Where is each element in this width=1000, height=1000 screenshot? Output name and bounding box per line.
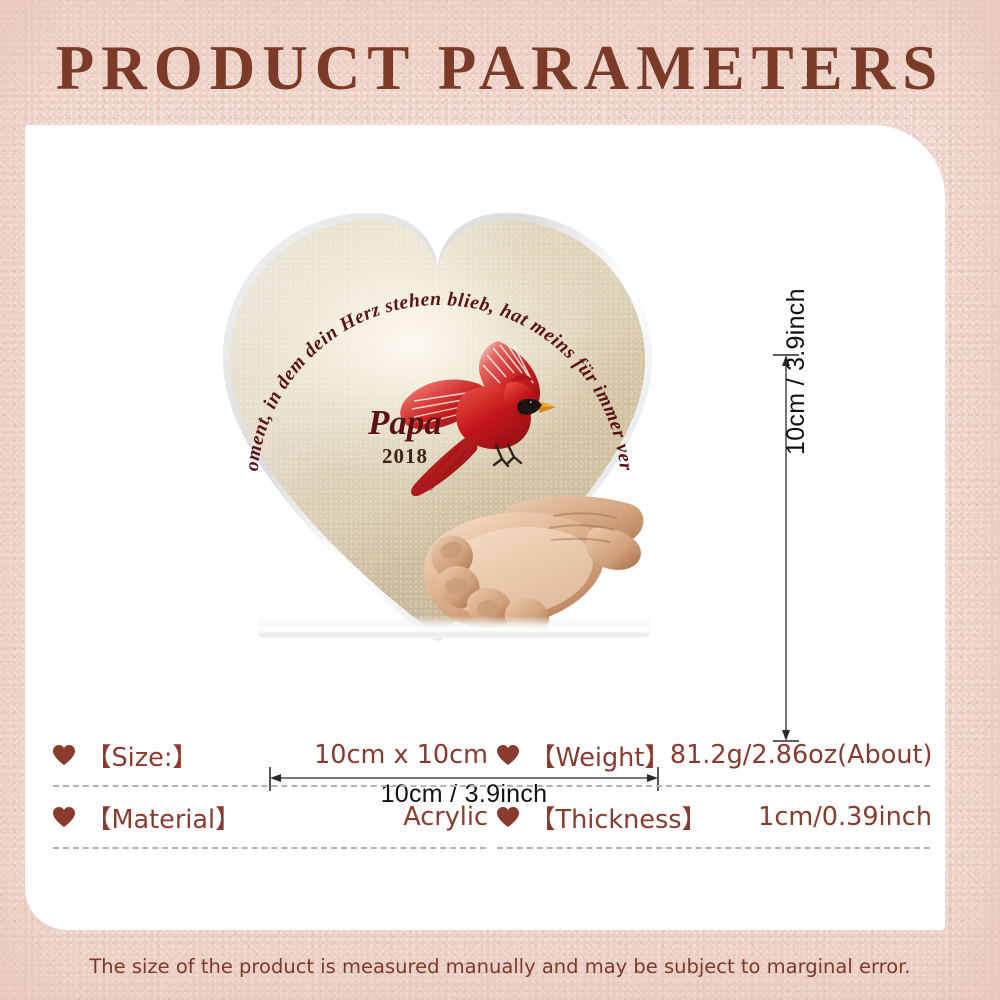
spec-divider <box>497 847 930 849</box>
heart-icon <box>51 743 77 767</box>
footer-disclaimer: The size of the product is measured manu… <box>0 955 1000 978</box>
heart-icon <box>495 805 521 829</box>
spec-label-size: 【Size:】 <box>86 737 198 774</box>
spec-row-material: 【Material】 Acrylic <box>51 787 488 847</box>
height-dimension-label: 10cm / 3.9inch <box>782 288 811 455</box>
spec-row-thickness: 【Thickness】 1cm/0.39inch <box>495 787 932 847</box>
engraved-quote: Der Moment, in dem dein Herz stehen blie… <box>230 220 645 635</box>
heart-icon <box>495 743 521 767</box>
page-title: PRODUCT PARAMETERS <box>0 32 1000 105</box>
spec-label-thickness: 【Thickness】 <box>530 799 707 836</box>
content-card: Der Moment, in dem dein Herz stehen blie… <box>25 125 945 930</box>
spec-label-weight: 【Weight】 <box>530 737 670 774</box>
spec-value-material: Acrylic <box>403 802 488 832</box>
specification-table: 【Size:】 10cm x 10cm 【Material】 Acrylic 【… <box>25 725 945 905</box>
spec-row-weight: 【Weight】 81.2g/2.86oz(About) <box>495 725 932 785</box>
product-heart-plaque: Der Moment, in dem dein Herz stehen blie… <box>230 220 645 635</box>
spec-label-material: 【Material】 <box>86 799 241 836</box>
spec-value-weight: 81.2g/2.86oz(About) <box>670 740 933 770</box>
spec-value-size: 10cm x 10cm <box>314 740 488 770</box>
spec-row-size: 【Size:】 10cm x 10cm <box>51 725 488 785</box>
spec-column-right: 【Weight】 81.2g/2.86oz(About) 【Thickness】… <box>495 725 932 849</box>
heart-icon <box>51 805 77 829</box>
acrylic-base-edge <box>258 616 650 638</box>
spec-value-thickness: 1cm/0.39inch <box>758 802 932 832</box>
engraved-quote-text: Der Moment, in dem dein Herz stehen blie… <box>220 204 636 472</box>
spec-divider <box>53 847 486 849</box>
spec-column-left: 【Size:】 10cm x 10cm 【Material】 Acrylic <box>51 725 488 849</box>
product-image-stage: Der Moment, in dem dein Herz stehen blie… <box>25 125 945 690</box>
